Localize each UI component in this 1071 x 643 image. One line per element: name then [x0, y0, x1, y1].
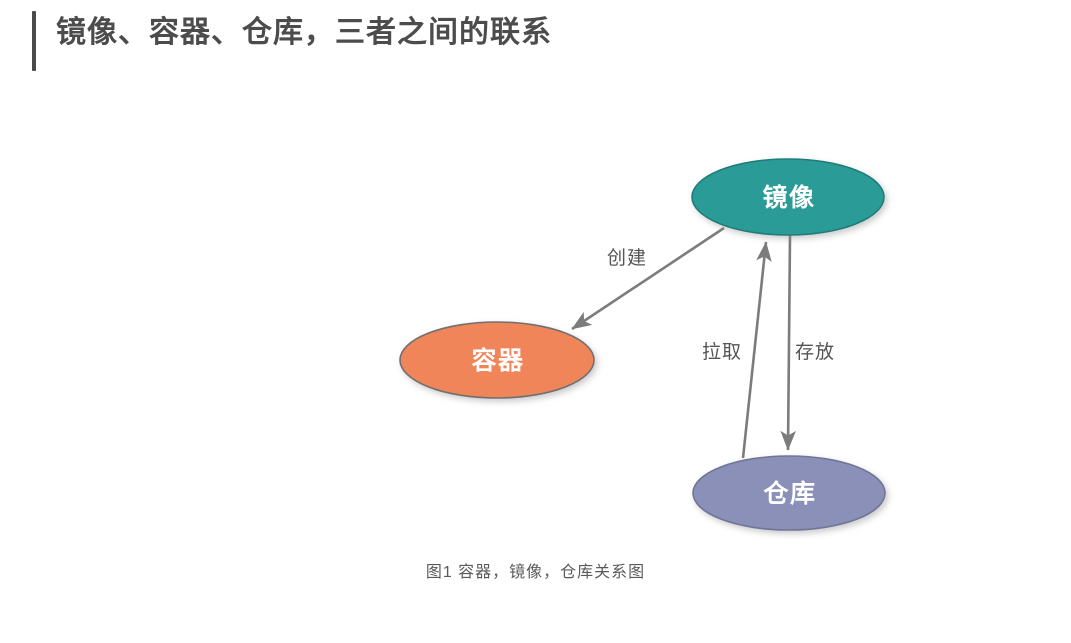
node-image-label: 镜像	[762, 183, 815, 212]
relationship-diagram: 创建 拉取 存放 镜像 容器 仓库 图1 容器，镜像，仓库关系图	[0, 96, 1071, 643]
edge-pull-line	[743, 242, 766, 458]
node-image[interactable]: 镜像	[692, 159, 884, 235]
heading-accent-rule	[32, 11, 36, 71]
edge-pull-label: 拉取	[702, 341, 742, 363]
edge-store-group: 存放	[788, 235, 835, 450]
node-repository[interactable]: 仓库	[693, 456, 885, 530]
edge-create-line	[572, 228, 724, 329]
node-repository-label: 仓库	[762, 479, 816, 508]
edge-pull-group: 拉取	[702, 242, 766, 458]
node-container-label: 容器	[471, 346, 524, 375]
edge-create-label: 创建	[607, 247, 647, 269]
edge-create-group: 创建	[572, 228, 724, 329]
heading-block: 镜像、容器、仓库，三者之间的联系	[0, 0, 1071, 96]
node-container[interactable]: 容器	[400, 322, 594, 398]
edge-store-line	[788, 235, 790, 450]
figure-caption: 图1 容器，镜像，仓库关系图	[0, 558, 1071, 582]
page-title: 镜像、容器、仓库，三者之间的联系	[56, 13, 552, 54]
edge-store-label: 存放	[795, 341, 835, 363]
